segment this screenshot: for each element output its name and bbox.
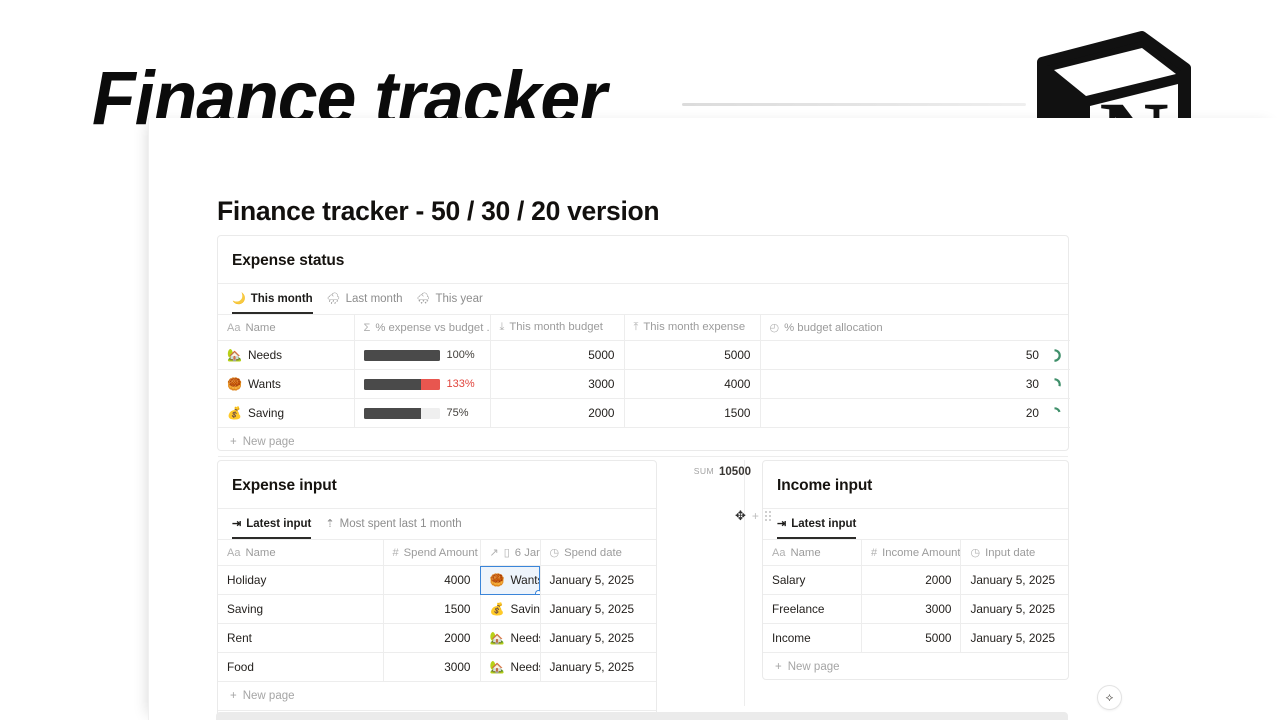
calendar-clock-icon: ◷ xyxy=(550,546,560,559)
income-input-view-tabs: ⇥ Latest input xyxy=(763,509,1068,539)
column-header-spend-amount[interactable]: #Spend Amount xyxy=(383,540,480,566)
page-icon: ▯ xyxy=(504,546,510,559)
cell-6-jars[interactable]: 🏡 Needs xyxy=(480,653,540,682)
cell-name[interactable]: Saving xyxy=(218,595,383,624)
expense-status-title: Expense status xyxy=(218,236,1068,283)
upload-rollup-icon: ⤒ xyxy=(634,321,639,334)
cell-spend-date[interactable]: January 5, 2025 xyxy=(540,566,656,595)
column-label: Input date xyxy=(985,547,1035,559)
cell-6-jars[interactable]: 🥮 Wants xyxy=(480,566,540,595)
tab-latest-input[interactable]: ⇥ Latest input xyxy=(232,518,311,539)
column-header-name[interactable]: AaName xyxy=(763,540,861,566)
column-label: This month expense xyxy=(643,321,745,333)
allocation-value: 30 xyxy=(1026,377,1039,391)
table-row[interactable]: Income 5000 January 5, 2025 xyxy=(763,624,1068,653)
cell-6-jars[interactable]: 💰 Saving xyxy=(480,595,540,624)
cell-spend-amount[interactable]: 3000 xyxy=(383,653,480,682)
house-with-garden-icon: 🏡 xyxy=(227,349,242,361)
ring-gauge-icon xyxy=(1048,349,1061,362)
cell-expense[interactable]: 1500 xyxy=(624,399,760,428)
cloud-snow-icon: 🌨 xyxy=(417,294,431,305)
plus-icon: + xyxy=(230,436,237,448)
expense-status-table: AaName Σ% expense vs budget ... ⤓This mo… xyxy=(218,315,1070,428)
tab-last-month[interactable]: 🌧 Last month xyxy=(327,293,403,314)
tab-this-year[interactable]: 🌨 This year xyxy=(417,293,483,314)
cell-budget[interactable]: 2000 xyxy=(490,399,624,428)
drag-handle-icon[interactable] xyxy=(765,511,771,521)
plus-icon: + xyxy=(775,661,782,673)
moon-cake-icon: 🥮 xyxy=(490,574,505,586)
tab-label: This month xyxy=(251,293,313,305)
income-input-table: AaName #Income Amount ◷Input date Salary… xyxy=(763,540,1068,653)
tab-label: Most spent last 1 month xyxy=(340,518,462,530)
jar-name: Wants xyxy=(510,573,540,587)
sort-up-icon: ⇡ xyxy=(325,519,334,530)
text-type-icon: Aa xyxy=(227,547,240,559)
column-label: % budget allocation xyxy=(784,322,883,334)
add-block-icon[interactable]: + xyxy=(752,509,759,523)
table-header-row: AaName #Income Amount ◷Input date xyxy=(763,540,1068,566)
cell-input-date[interactable]: January 5, 2025 xyxy=(961,566,1068,595)
progress-bar xyxy=(364,379,440,390)
notion-ai-button[interactable]: ⟡ xyxy=(1097,685,1122,710)
cell-name[interactable]: 🥮 Wants xyxy=(218,370,354,399)
column-label: This month budget xyxy=(509,321,603,333)
tab-label: This year xyxy=(436,293,483,305)
notion-page-sheet: Finance tracker - 50 / 30 / 20 version E… xyxy=(148,118,1280,720)
column-header-this-month-budget[interactable]: ⤓This month budget xyxy=(490,315,624,341)
column-label: Spend date xyxy=(564,547,622,559)
column-drag-tools[interactable]: ✥ + xyxy=(735,508,771,524)
column-label: Name xyxy=(245,547,275,559)
cell-input-date[interactable]: January 5, 2025 xyxy=(961,624,1068,653)
new-page-label: New page xyxy=(243,690,295,702)
expense-input-view-tabs: ⇥ Latest input ⇡ Most spent last 1 month xyxy=(218,509,656,539)
text-type-icon: Aa xyxy=(772,547,785,559)
column-header-6-jars[interactable]: ↗▯6 Jars xyxy=(480,540,540,566)
cell-name[interactable]: Salary xyxy=(763,566,861,595)
login-arrow-icon: ⇥ xyxy=(777,519,786,530)
tab-most-spent-last-1-month[interactable]: ⇡ Most spent last 1 month xyxy=(325,518,461,539)
income-input-rows: Salary 2000 January 5, 2025 Freelance 30… xyxy=(763,566,1068,653)
cell-spend-date[interactable]: January 5, 2025 xyxy=(540,595,656,624)
cell-spend-date[interactable]: January 5, 2025 xyxy=(540,624,656,653)
column-label: Name xyxy=(790,547,820,559)
column-label: 6 Jars xyxy=(515,547,540,559)
new-page-button[interactable]: + New page xyxy=(218,682,656,711)
table-row[interactable]: Rent 2000 🏡 Needs January 5, 2025 xyxy=(218,624,656,653)
jar-name: Needs xyxy=(510,660,540,674)
number-type-icon: # xyxy=(871,547,877,559)
cell-budget[interactable]: 5000 xyxy=(490,341,624,370)
cell-input-date[interactable]: January 5, 2025 xyxy=(961,595,1068,624)
cell-allocation[interactable]: 50 xyxy=(760,341,1070,370)
moon-cake-icon: 🥮 xyxy=(227,378,242,390)
cell-name[interactable]: Rent xyxy=(218,624,383,653)
table-row[interactable]: Food 3000 🏡 Needs January 5, 2025 xyxy=(218,653,656,682)
cell-income-amount[interactable]: 5000 xyxy=(861,624,961,653)
row-name: Needs xyxy=(248,348,282,362)
column-header-spend-date[interactable]: ◷Spend date xyxy=(540,540,656,566)
cell-6-jars[interactable]: 🏡 Needs xyxy=(480,624,540,653)
allocation-value: 20 xyxy=(1026,406,1039,420)
column-header-income-amount[interactable]: #Income Amount xyxy=(861,540,961,566)
ring-gauge-icon xyxy=(1048,378,1061,391)
table-header-row: AaName Σ% expense vs budget ... ⤓This mo… xyxy=(218,315,1070,341)
cell-spend-amount[interactable]: 1500 xyxy=(383,595,480,624)
move-cursor-icon: ✥ xyxy=(735,508,746,524)
jar-name: Needs xyxy=(510,631,540,645)
cell-name[interactable]: 🏡 Needs xyxy=(218,341,354,370)
progress-label: 75% xyxy=(447,407,469,419)
tab-this-month[interactable]: 🌙 This month xyxy=(232,293,313,314)
cloud-rain-icon: 🌧 xyxy=(327,294,341,305)
row-name: Saving xyxy=(248,406,284,420)
income-input-card: Income input ⇥ Latest input AaName xyxy=(762,460,1069,680)
expense-input-rows: Holiday 4000 🥮 Wants January 5, 2025 Sav… xyxy=(218,566,656,682)
column-label: Name xyxy=(245,322,275,334)
tab-label: Latest input xyxy=(246,518,311,530)
column-header-name[interactable]: AaName xyxy=(218,540,383,566)
cell-spend-date[interactable]: January 5, 2025 xyxy=(540,653,656,682)
table-row[interactable]: Salary 2000 January 5, 2025 xyxy=(763,566,1068,595)
new-page-label: New page xyxy=(243,436,295,448)
cell-budget[interactable]: 3000 xyxy=(490,370,624,399)
download-rollup-icon: ⤓ xyxy=(500,321,505,334)
new-page-button[interactable]: + New page xyxy=(763,653,1068,681)
page-title: Finance tracker - 50 / 30 / 20 version xyxy=(217,196,659,227)
row-name: Wants xyxy=(248,377,281,391)
table-row[interactable]: Freelance 3000 January 5, 2025 xyxy=(763,595,1068,624)
expense-input-table: AaName #Spend Amount ↗▯6 Jars ◷Spend dat… xyxy=(218,540,656,682)
table-row[interactable]: 🏡 Needs 100% 5000 xyxy=(218,341,1070,370)
notion-ai-icon: ⟡ xyxy=(1106,690,1114,705)
expense-status-view-tabs: 🌙 This month 🌧 Last month 🌨 This year xyxy=(218,284,1068,314)
login-arrow-icon: ⇥ xyxy=(232,519,241,530)
number-type-icon: # xyxy=(393,547,399,559)
cell-income-amount[interactable]: 2000 xyxy=(861,566,961,595)
cell-name[interactable]: Holiday xyxy=(218,566,383,595)
progress-label: 100% xyxy=(447,349,475,361)
sum-key: SUM xyxy=(694,466,714,476)
new-page-label: New page xyxy=(788,661,840,673)
expense-input-card: Expense input ⇥ Latest input ⇡ Most spen… xyxy=(217,460,657,720)
next-block-placeholder xyxy=(216,712,1068,720)
jar-name: Saving xyxy=(510,602,540,616)
column-header-name[interactable]: AaName xyxy=(218,315,354,341)
crescent-moon-icon: 🌙 xyxy=(232,294,246,305)
table-row[interactable]: Holiday 4000 🥮 Wants January 5, 2025 xyxy=(218,566,656,595)
money-bag-icon: 💰 xyxy=(490,603,505,615)
column-header-percent-expense-vs-budget[interactable]: Σ% expense vs budget ... xyxy=(354,315,490,341)
relation-arrow-icon: ↗ xyxy=(490,546,499,559)
column-header-percent-budget-allocation[interactable]: ◴% budget allocation xyxy=(760,315,1070,341)
sum-value: 10500 xyxy=(719,466,751,478)
clock-progress-icon: ◴ xyxy=(770,321,780,334)
hero-divider-line xyxy=(682,103,1026,106)
column-label: % expense vs budget ... xyxy=(375,322,490,334)
cell-percent-expense[interactable]: 133% xyxy=(354,370,490,399)
cell-name[interactable]: Freelance xyxy=(763,595,861,624)
table-row[interactable]: 💰 Saving 75% 2000 xyxy=(218,399,1070,428)
house-with-garden-icon: 🏡 xyxy=(490,632,505,644)
expense-input-title: Expense input xyxy=(218,461,656,508)
column-header-input-date[interactable]: ◷Input date xyxy=(961,540,1068,566)
cell-spend-amount[interactable]: 4000 xyxy=(383,566,480,595)
plus-icon: + xyxy=(230,690,237,702)
sigma-rollup-icon: Σ xyxy=(364,322,371,334)
tab-label: Last month xyxy=(346,293,403,305)
progress-bar xyxy=(364,350,440,361)
cell-name[interactable]: Income xyxy=(763,624,861,653)
tab-label: Latest input xyxy=(791,518,856,530)
cell-expense[interactable]: 4000 xyxy=(624,370,760,399)
cell-percent-expense[interactable]: 100% xyxy=(354,341,490,370)
cell-expense[interactable]: 5000 xyxy=(624,341,760,370)
column-divider[interactable] xyxy=(744,460,745,706)
progress-label: 133% xyxy=(447,378,475,390)
income-input-title: Income input xyxy=(763,461,1068,508)
cell-percent-expense[interactable]: 75% xyxy=(354,399,490,428)
column-label: Spend Amount xyxy=(404,547,478,559)
tab-latest-input[interactable]: ⇥ Latest input xyxy=(777,518,856,539)
table-row[interactable]: Saving 1500 💰 Saving January 5, 2025 xyxy=(218,595,656,624)
cell-allocation[interactable]: 20 xyxy=(760,399,1070,428)
cell-allocation[interactable]: 30 xyxy=(760,370,1070,399)
cell-income-amount[interactable]: 3000 xyxy=(861,595,961,624)
cell-spend-amount[interactable]: 2000 xyxy=(383,624,480,653)
money-bag-icon: 💰 xyxy=(227,407,242,419)
column-header-this-month-expense[interactable]: ⤒This month expense xyxy=(624,315,760,341)
calendar-clock-icon: ◷ xyxy=(970,546,980,559)
progress-bar xyxy=(364,408,440,419)
column-label: Income Amount xyxy=(882,547,961,559)
screenshot-root: Finance tracker N Finance tracker - 50 /… xyxy=(0,0,1280,720)
table-row[interactable]: 🥮 Wants 133% xyxy=(218,370,1070,399)
text-type-icon: Aa xyxy=(227,322,240,334)
cell-name[interactable]: Food xyxy=(218,653,383,682)
allocation-value: 50 xyxy=(1026,348,1039,362)
expense-status-rows: 🏡 Needs 100% 5000 xyxy=(218,341,1070,428)
table-header-row: AaName #Spend Amount ↗▯6 Jars ◷Spend dat… xyxy=(218,540,656,566)
cell-name[interactable]: 💰 Saving xyxy=(218,399,354,428)
house-with-garden-icon: 🏡 xyxy=(490,661,505,673)
expense-status-card: Expense status 🌙 This month 🌧 Last month… xyxy=(217,235,1069,451)
new-page-button[interactable]: + New page xyxy=(218,428,1068,457)
ring-gauge-icon xyxy=(1048,407,1061,420)
